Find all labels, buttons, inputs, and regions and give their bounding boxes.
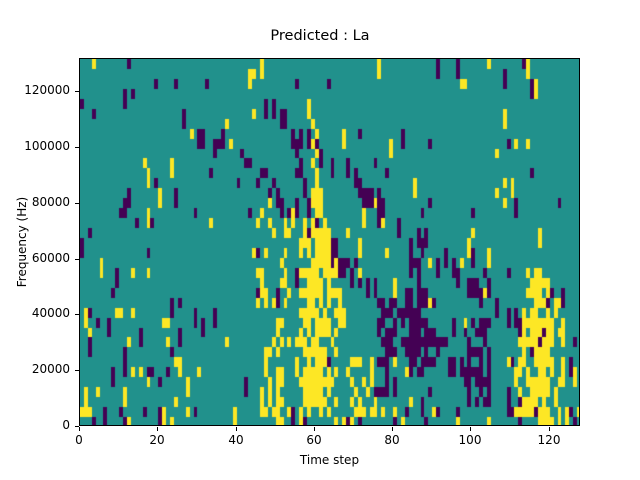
x-tick-label: 40 <box>206 433 266 447</box>
y-axis-label: Frequency (Hz) <box>14 58 30 426</box>
y-tick-mark <box>75 370 79 371</box>
chart-title: Predicted : La <box>0 28 640 44</box>
x-tick-mark <box>392 427 393 431</box>
y-tick-mark <box>75 314 79 315</box>
y-tick-mark <box>75 259 79 260</box>
x-tick-label: 0 <box>49 433 109 447</box>
y-tick-label: 40000 <box>0 306 70 320</box>
x-tick-label: 60 <box>284 433 344 447</box>
y-tick-label: 20000 <box>0 362 70 376</box>
x-tick-label: 20 <box>127 433 187 447</box>
x-tick-mark <box>314 427 315 431</box>
x-tick-label: 120 <box>519 433 579 447</box>
y-tick-label: 0 <box>0 418 70 432</box>
spectrogram-heatmap <box>80 59 580 426</box>
x-tick-mark <box>470 427 471 431</box>
x-tick-label: 80 <box>362 433 422 447</box>
x-tick-label: 100 <box>440 433 500 447</box>
y-tick-mark <box>75 91 79 92</box>
y-tick-label: 60000 <box>0 251 70 265</box>
x-tick-mark <box>157 427 158 431</box>
y-tick-label: 100000 <box>0 139 70 153</box>
heatmap-axes <box>79 58 580 426</box>
x-tick-mark <box>549 427 550 431</box>
x-tick-mark <box>79 427 80 431</box>
x-axis-label: Time step <box>79 453 580 467</box>
y-tick-mark <box>75 147 79 148</box>
y-tick-label: 120000 <box>0 83 70 97</box>
x-tick-mark <box>236 427 237 431</box>
y-tick-label: 80000 <box>0 195 70 209</box>
matplotlib-figure: Predicted : La 0200004000060000800001000… <box>0 0 640 480</box>
y-tick-mark <box>75 203 79 204</box>
